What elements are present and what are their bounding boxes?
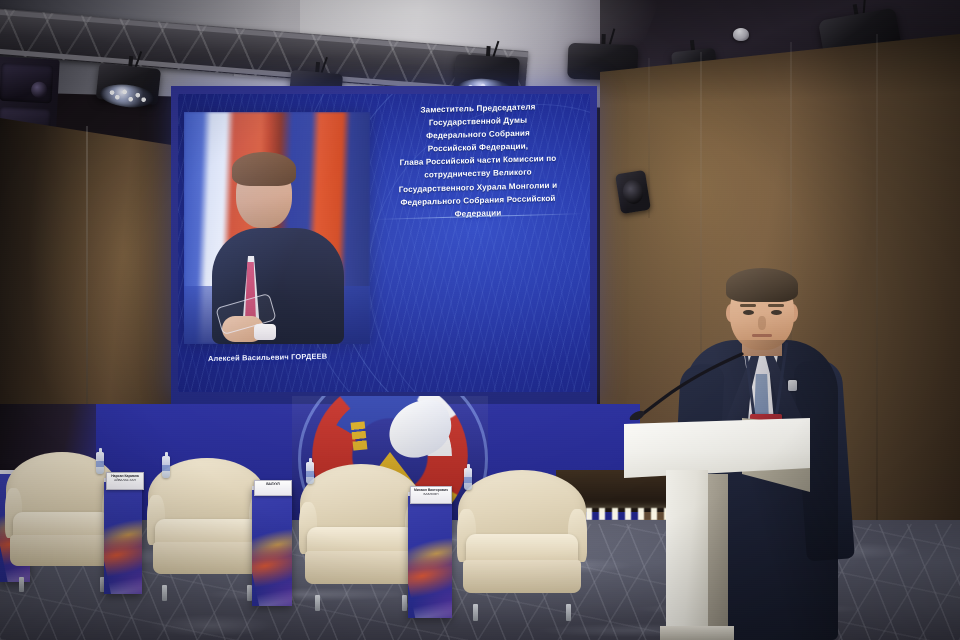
- presenter-eyebrow-right: [768, 304, 784, 307]
- conference-hall-photo: Заместитель Председателя Государственной…: [0, 0, 960, 640]
- podium-column-side: [708, 474, 728, 638]
- presenter-eye-left: [743, 310, 754, 315]
- screen-title-block: Заместитель Председателя Государственной…: [374, 99, 582, 223]
- name-card-3: Михаил Викторович БАБЛОЯН: [410, 486, 452, 504]
- presenter-nose: [758, 316, 766, 330]
- name-card-2: ВАЛУУЛ: [254, 480, 292, 496]
- side-table-2: [252, 486, 292, 606]
- water-bottle-4: [464, 468, 472, 490]
- portrait-glow-overlay: [184, 112, 370, 344]
- led-screen: Заместитель Председателя Государственной…: [178, 94, 590, 392]
- podium-column: [666, 470, 708, 638]
- water-bottle-3: [306, 462, 314, 484]
- presenter-eye-right: [771, 310, 782, 315]
- screen-portrait-photo: [184, 112, 370, 344]
- name-card-1: Нарсан Кармана АЙВАЛАК-ХАН: [106, 472, 144, 490]
- presenter-lapel-pin: [788, 380, 797, 391]
- side-table-3: [408, 492, 452, 618]
- presenter-mouth: [752, 334, 772, 337]
- armchair-3: [300, 464, 422, 600]
- podium-base: [660, 626, 734, 640]
- stage-light-1: [96, 53, 162, 103]
- water-bottle-1: [96, 452, 104, 474]
- dome-camera-icon: [733, 28, 749, 41]
- name-card-2-line1: ВАЛУУЛ: [255, 483, 291, 487]
- name-card-3-line2: БАБЛОЯН: [411, 493, 451, 497]
- presenter-hair: [726, 268, 798, 302]
- side-table-1: [104, 478, 142, 594]
- wall-seam-3: [876, 34, 878, 520]
- name-card-1-line2: АЙВАЛАК-ХАН: [107, 479, 143, 483]
- podium-top: [624, 418, 810, 478]
- wall-mounted-speaker: [615, 170, 651, 214]
- water-bottle-2: [162, 456, 170, 478]
- presenter-eyebrow-left: [740, 304, 756, 307]
- armchair-4: [458, 470, 586, 610]
